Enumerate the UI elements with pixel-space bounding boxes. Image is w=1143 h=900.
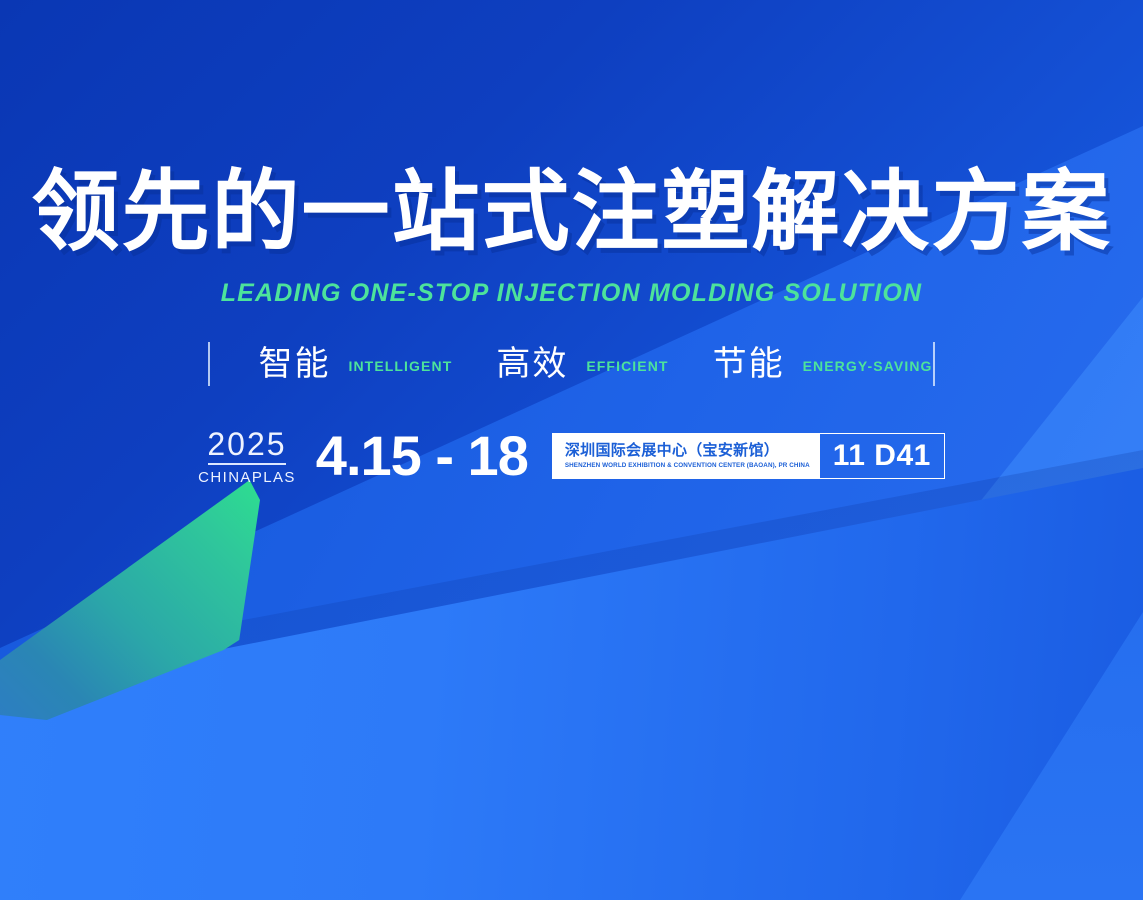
feature-label-cn: 高效 xyxy=(496,347,568,381)
subheadline-english: LEADING ONE-STOP INJECTION MOLDING SOLUT… xyxy=(0,279,1143,308)
feature-item-intelligent: 智能 INTELLIGENT xyxy=(258,347,452,381)
feature-list: 智能 INTELLIGENT 高效 EFFICIENT 节能 ENERGY-SA… xyxy=(0,336,1143,392)
feature-label-cn: 智能 xyxy=(258,347,330,381)
chinaplas-wordmark: CHINAPLAS xyxy=(198,470,296,485)
feature-divider-right xyxy=(933,342,935,386)
booth-number: 11 D41 xyxy=(820,434,944,478)
feature-item-efficient: 高效 EFFICIENT xyxy=(496,347,668,381)
feature-label-en: ENERGY-SAVING xyxy=(803,359,933,373)
feature-label-en: EFFICIENT xyxy=(586,359,668,373)
event-date-range: 4.15 - 18 xyxy=(316,428,528,484)
chinaplas-year: 2025 xyxy=(207,428,286,460)
venue-name-en: SHENZHEN WORLD EXHIBITION & CONVENTION C… xyxy=(565,462,810,470)
event-info-bar: 2025 CHINAPLAS 4.15 - 18 深圳国际会展中心（宝安新馆） … xyxy=(0,428,1143,485)
chinaplas-logo-rule xyxy=(208,463,286,465)
venue-name-block: 深圳国际会展中心（宝安新馆） SHENZHEN WORLD EXHIBITION… xyxy=(553,434,820,478)
feature-label-cn: 节能 xyxy=(713,347,785,381)
feature-item-energy-saving: 节能 ENERGY-SAVING xyxy=(713,347,933,381)
chinaplas-logo: 2025 CHINAPLAS xyxy=(198,428,296,485)
banner-content: 领先的一站式注塑解决方案 LEADING ONE-STOP INJECTION … xyxy=(0,0,1143,900)
venue-name-cn: 深圳国际会展中心（宝安新馆） xyxy=(565,443,810,460)
headline-chinese: 领先的一站式注塑解决方案 xyxy=(0,166,1143,258)
venue-booth-box: 深圳国际会展中心（宝安新馆） SHENZHEN WORLD EXHIBITION… xyxy=(552,433,945,479)
feature-divider-left xyxy=(208,342,210,386)
feature-label-en: INTELLIGENT xyxy=(348,359,452,373)
promo-banner: 领先的一站式注塑解决方案 LEADING ONE-STOP INJECTION … xyxy=(0,0,1143,900)
